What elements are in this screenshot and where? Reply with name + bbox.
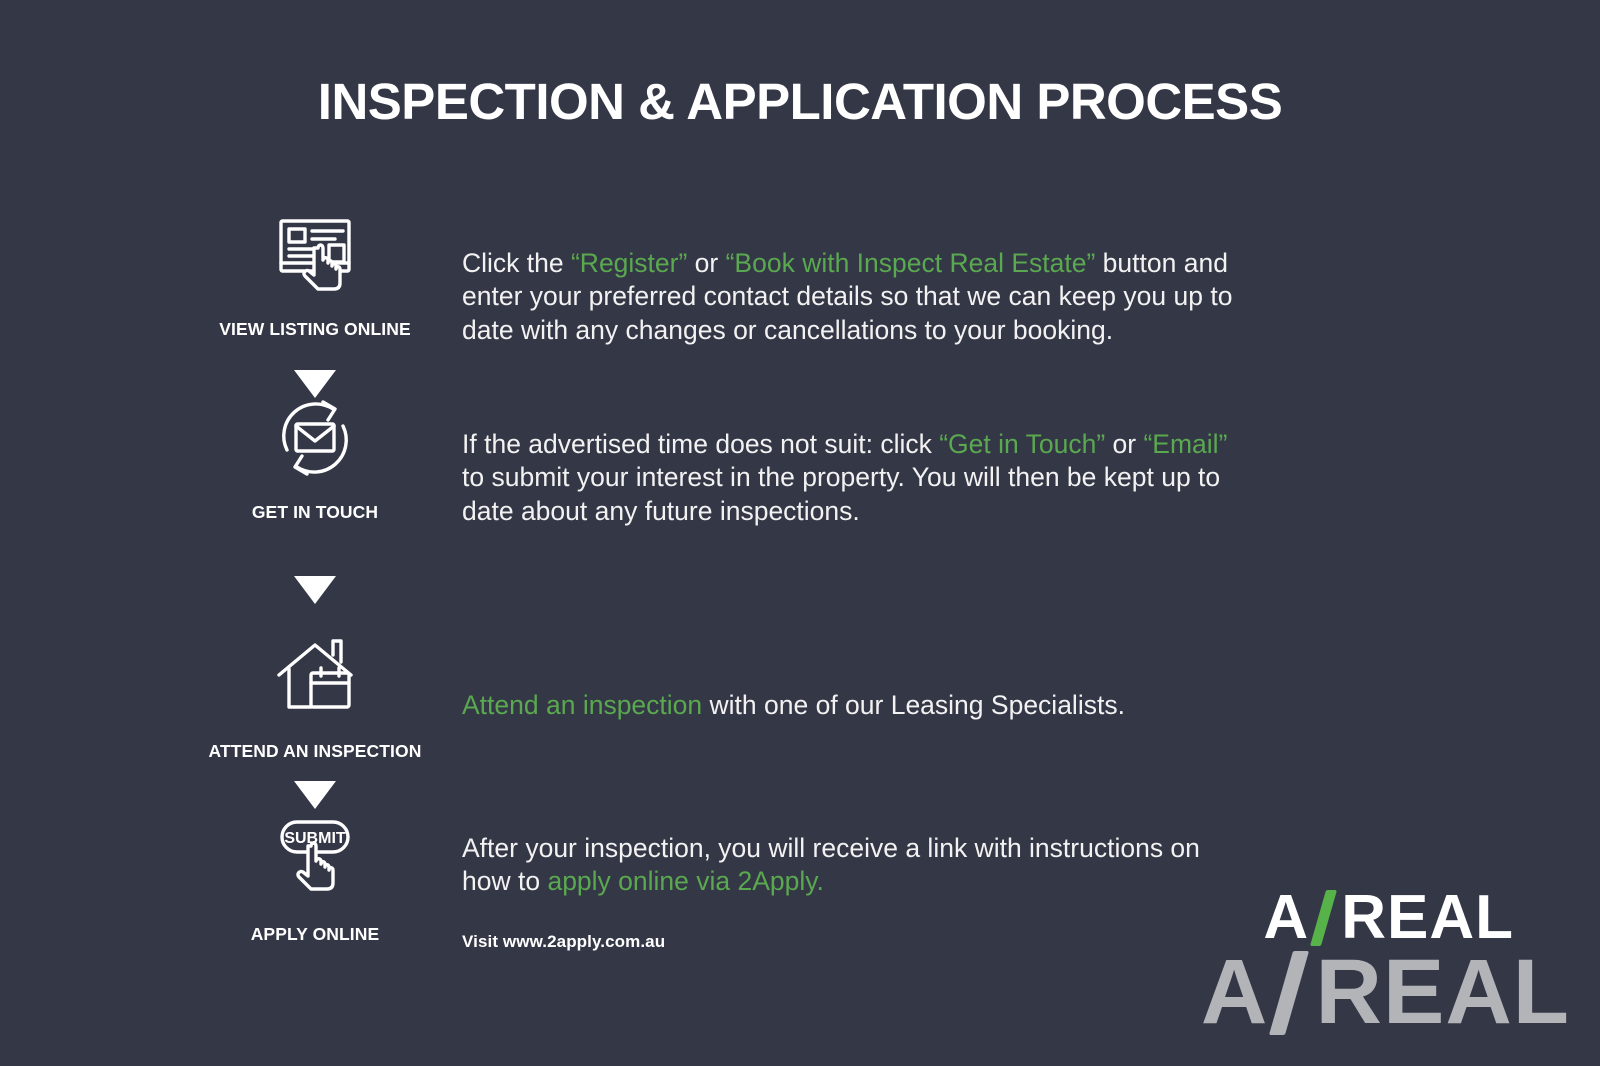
body-segment: to submit your interest in the property.…	[462, 462, 1220, 525]
step-icon-column: SUBMIT APPLY ONLINE	[180, 810, 450, 945]
body-segment: If the advertised time does not suit: cl…	[462, 429, 939, 459]
body-segment-highlight: “Email”	[1143, 429, 1227, 459]
step-icon-column: ATTEND AN INSPECTION	[180, 627, 450, 762]
step-arrow-down-icon	[294, 781, 336, 809]
step-body-text: After your inspection, you will receive …	[462, 832, 1242, 952]
step-label: GET IN TOUCH	[180, 502, 450, 523]
body-segment: with one of our Leasing Specialists.	[702, 690, 1125, 720]
apply-online-icon: SUBMIT	[180, 810, 450, 910]
attend-an-inspection-icon	[180, 627, 450, 727]
step-arrow-down-icon	[294, 370, 336, 398]
page-title: INSPECTION & APPLICATION PROCESS	[0, 72, 1600, 131]
logo-slash-icon	[1269, 951, 1309, 1035]
step-arrow-down-icon	[294, 576, 336, 604]
view-listing-online-icon	[180, 205, 450, 305]
body-segment-highlight: “Book with Inspect Real Estate”	[726, 248, 1096, 278]
logo-right-text: REAL	[1316, 940, 1570, 1045]
step-icon-column: VIEW LISTING ONLINE	[180, 205, 450, 340]
body-segment-highlight: “Register”	[571, 248, 687, 278]
step-body-text: Attend an inspection with one of our Lea…	[462, 689, 1242, 722]
step-label: APPLY ONLINE	[180, 924, 450, 945]
step-body-paragraph: After your inspection, you will receive …	[462, 832, 1242, 899]
body-segment-highlight: “Get in Touch”	[939, 429, 1105, 459]
step-icon-column: GET IN TOUCH	[180, 388, 450, 523]
step-body-text: Click the “Register” or “Book with Inspe…	[462, 247, 1242, 347]
step-label: ATTEND AN INSPECTION	[180, 741, 450, 762]
logo-left-text: A	[1201, 940, 1268, 1045]
areal-logo-secondary: A REAL	[1201, 940, 1570, 1045]
body-segment-highlight: Attend an inspection	[462, 690, 702, 720]
body-segment: Click the	[462, 248, 571, 278]
inspection-application-process-page: INSPECTION & APPLICATION PROCESS	[0, 0, 1600, 1066]
body-segment: or	[1105, 429, 1143, 459]
body-segment: or	[687, 248, 725, 278]
step-label: VIEW LISTING ONLINE	[180, 319, 450, 340]
step-body-text: If the advertised time does not suit: cl…	[462, 428, 1242, 528]
get-in-touch-icon	[180, 388, 450, 488]
visit-url-text: Visit www.2apply.com.au	[462, 931, 1242, 952]
logo-slash-icon	[1310, 890, 1337, 946]
body-segment-highlight: apply online via 2Apply.	[547, 866, 823, 896]
